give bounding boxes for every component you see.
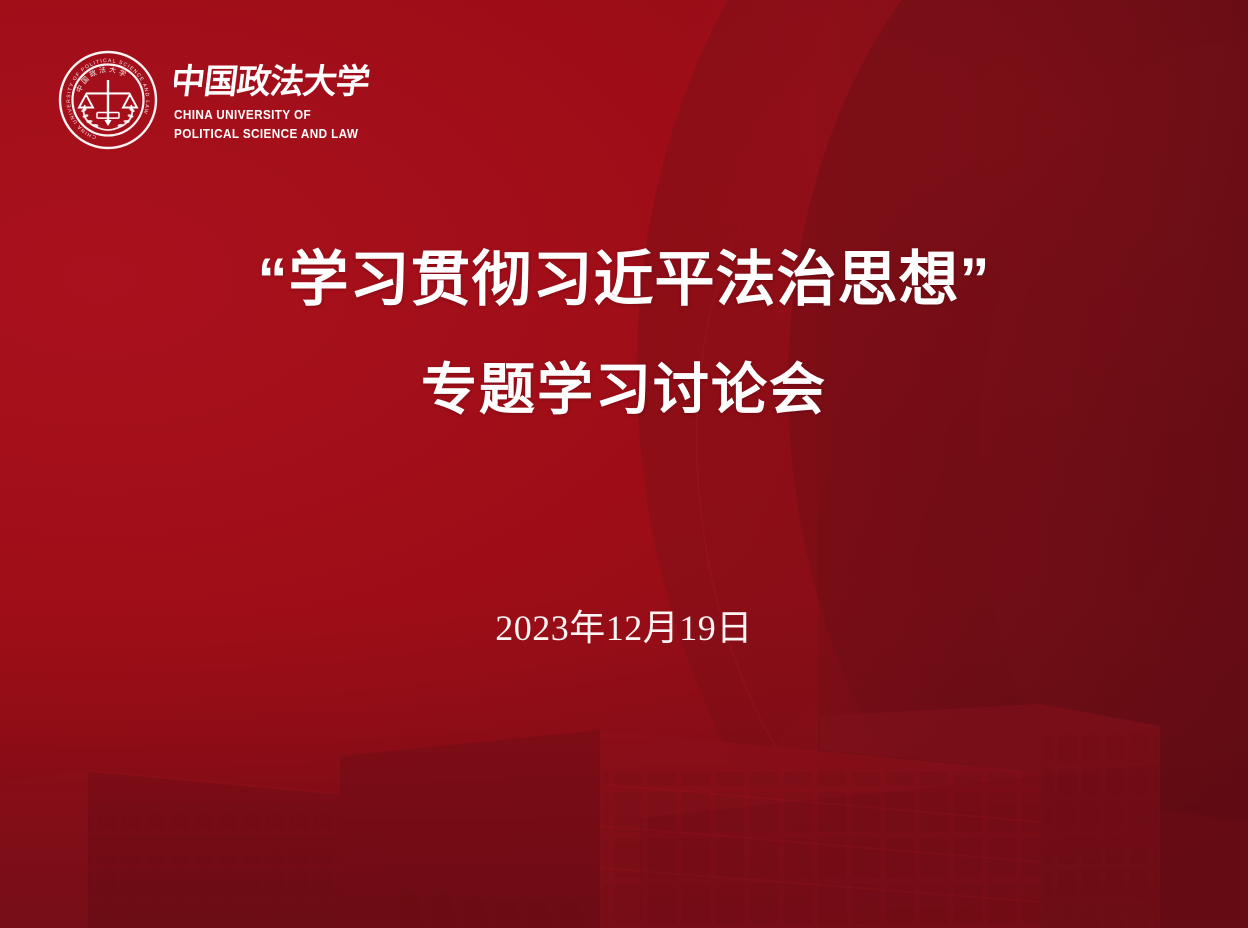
- university-wordmark-chinese: 中国政法大学: [174, 58, 370, 104]
- university-logo: CHINA UNIVERSITY OF POLITICAL SCIENCE AN…: [58, 50, 370, 150]
- svg-text:中国政法大学: 中国政法大学: [174, 62, 370, 101]
- university-wordmark-en-line2: POLITICAL SCIENCE AND LAW: [174, 127, 358, 142]
- university-wordmark-en-line1: CHINA UNIVERSITY OF: [174, 108, 358, 123]
- title-block: “学习贯彻习近平法治思想” 专题学习讨论会: [0, 238, 1248, 430]
- slide-title-secondary: 专题学习讨论会: [0, 350, 1248, 430]
- slide-date: 2023年12月19日: [0, 605, 1248, 651]
- university-seal-icon: CHINA UNIVERSITY OF POLITICAL SCIENCE AN…: [58, 50, 158, 150]
- university-wordmark: 中国政法大学 CHINA UNIVERSITY OF POLITICAL SCI…: [174, 58, 370, 142]
- presentation-title-slide: CHINA UNIVERSITY OF POLITICAL SCIENCE AN…: [0, 0, 1248, 928]
- campus-building-silhouette: [0, 698, 1248, 928]
- slide-title-primary: “学习贯彻习近平法治思想”: [0, 238, 1248, 322]
